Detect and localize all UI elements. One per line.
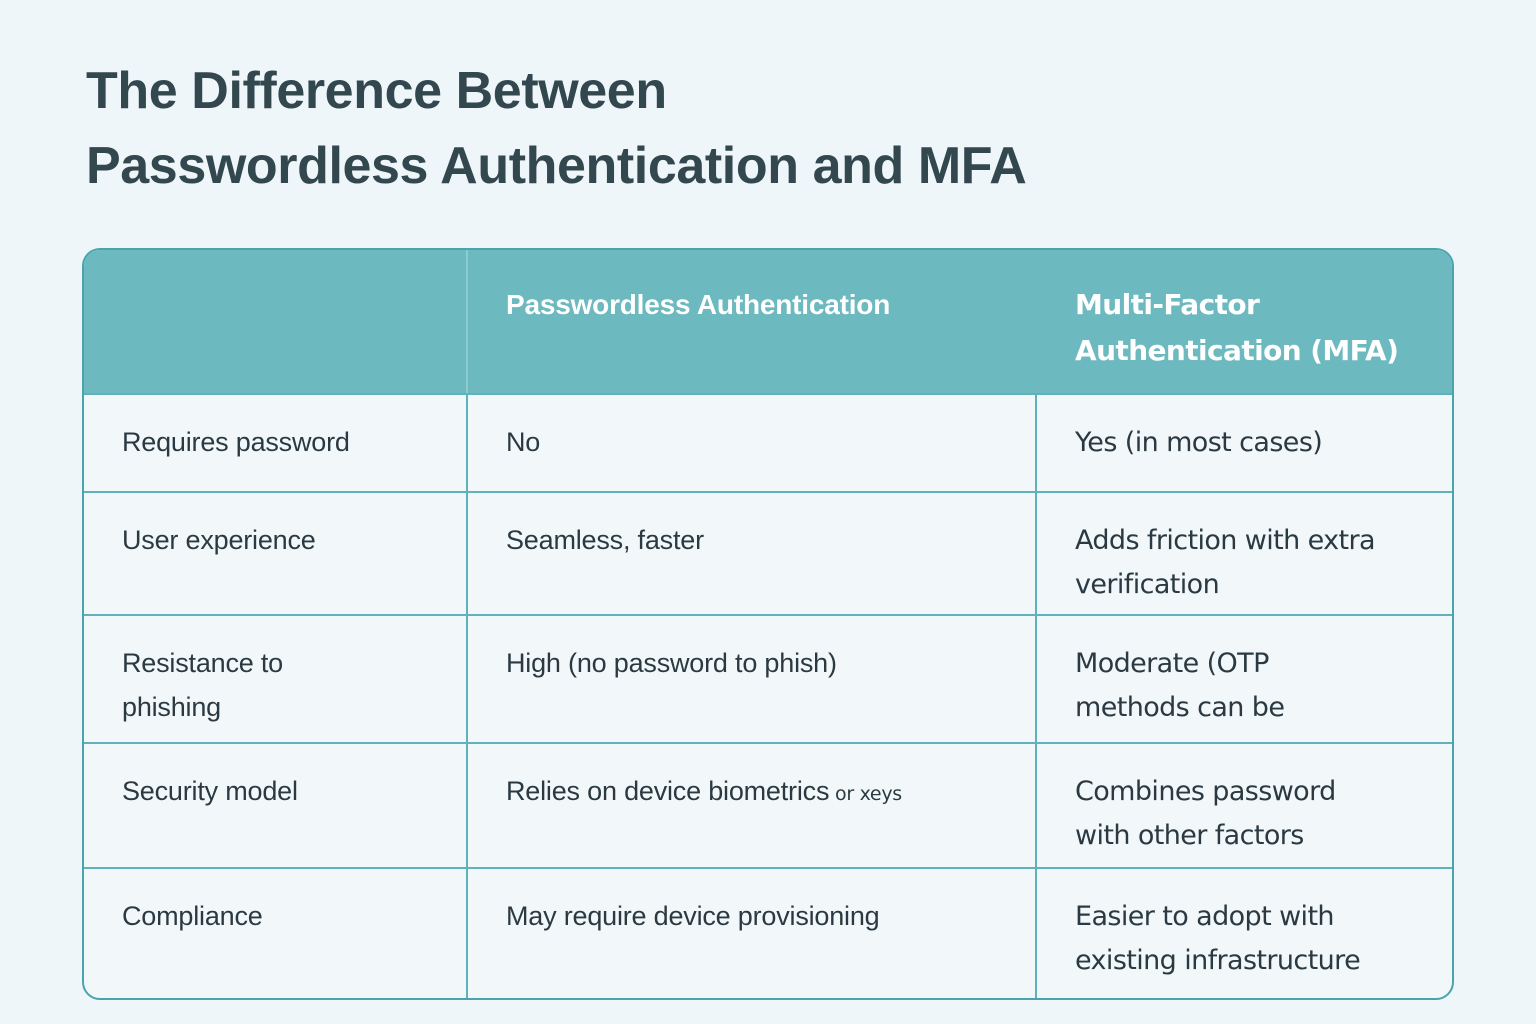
table-row: Resistance to phishing High (no password…: [84, 616, 1452, 744]
header-cell-feature: [84, 250, 468, 393]
table-row: Security model Relies on device biometri…: [84, 744, 1452, 869]
table-row: Requires password No Yes (in most cases): [84, 395, 1452, 493]
cell-mfa: Moderate (OTP methods can be: [1037, 616, 1452, 742]
header-cell-passwordless: Passwordless Authentication: [468, 250, 1037, 393]
cell-feature: Security model: [84, 744, 468, 867]
cell-feature: Compliance: [84, 869, 468, 1000]
cell-feature: Resistance to phishing: [84, 616, 468, 742]
cell-passwordless: May require device provisioning: [468, 869, 1037, 1000]
cell-passwordless-note: or xeys: [829, 783, 902, 805]
table-row: Compliance May require device provisioni…: [84, 869, 1452, 1000]
header-cell-mfa: Multi-Factor Authentication (MFA): [1037, 250, 1452, 393]
cell-feature: Requires password: [84, 395, 468, 491]
cell-mfa: Yes (in most cases): [1037, 395, 1452, 491]
cell-mfa: Easier to adopt with existing infrastruc…: [1037, 869, 1452, 1000]
cell-feature: User experience: [84, 493, 468, 614]
cell-passwordless-main: Relies on device biometrics: [506, 776, 829, 806]
comparison-table: Passwordless Authentication Multi-Factor…: [82, 248, 1454, 1000]
cell-passwordless: Relies on device biometrics or xeys: [468, 744, 1037, 867]
table-row: User experience Seamless, faster Adds fr…: [84, 493, 1452, 616]
cell-passwordless: High (no password to phish): [468, 616, 1037, 742]
table-header-row: Passwordless Authentication Multi-Factor…: [84, 250, 1452, 395]
infographic-page: The Difference Between Passwordless Auth…: [0, 0, 1536, 1024]
cell-mfa: Combines password with other factors: [1037, 744, 1452, 867]
cell-mfa: Adds friction with extra verification: [1037, 493, 1452, 614]
cell-passwordless: Seamless, faster: [468, 493, 1037, 614]
page-title: The Difference Between Passwordless Auth…: [86, 54, 1406, 205]
cell-passwordless: No: [468, 395, 1037, 491]
